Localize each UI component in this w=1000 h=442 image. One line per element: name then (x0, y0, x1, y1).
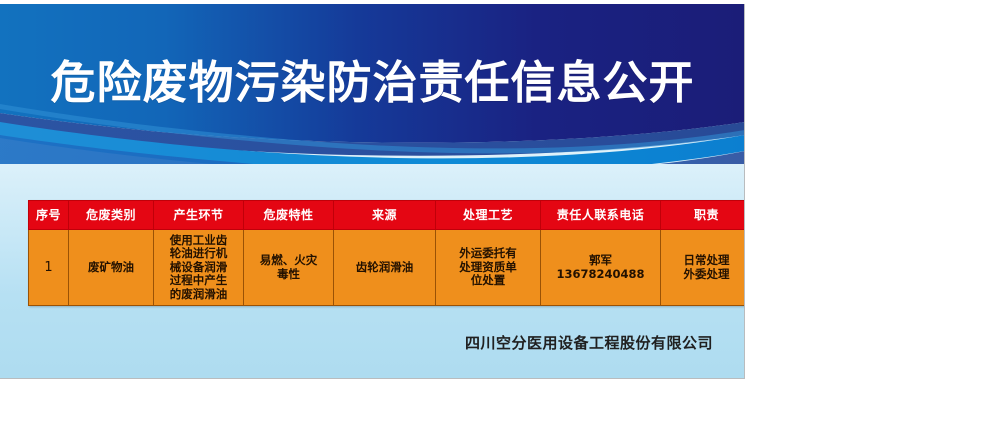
table-header-row: 序号 危废类别 产生环节 危废特性 来源 处理工艺 责任人联系电话 职责 (29, 201, 746, 230)
table-row: 1 废矿物油 使用工业齿 轮油进行机 械设备润滑 过程中产生 的废润滑油 易燃、… (29, 230, 746, 306)
cell-category: 废矿物油 (69, 230, 154, 306)
column-header-duty: 职责 (661, 201, 746, 230)
cell-process-line: 外运委托有 (438, 247, 538, 261)
cell-process-line: 位处置 (438, 274, 538, 288)
cell-hazard: 易燃、火灾 毒性 (244, 230, 334, 306)
cell-stage: 使用工业齿 轮油进行机 械设备润滑 过程中产生 的废润滑油 (154, 230, 244, 306)
cell-hazard-line: 毒性 (246, 268, 331, 282)
column-header-hazard: 危废特性 (244, 201, 334, 230)
column-header-seq: 序号 (29, 201, 69, 230)
banner: 危险废物污染防治责任信息公开 (0, 4, 745, 164)
cell-seq: 1 (29, 230, 69, 306)
cell-stage-line: 使用工业齿 (156, 234, 241, 248)
column-header-source: 来源 (334, 201, 436, 230)
cell-duty-line: 外委处理 (663, 268, 745, 282)
cell-source: 齿轮润滑油 (334, 230, 436, 306)
cell-process-line: 处理资质单 (438, 261, 538, 275)
hazardous-waste-table: 序号 危废类别 产生环节 危废特性 来源 处理工艺 责任人联系电话 职责 1 废… (28, 200, 745, 306)
column-header-stage: 产生环节 (154, 201, 244, 230)
cell-hazard-line: 易燃、火灾 (246, 254, 331, 268)
poster-container: 危险废物污染防治责任信息公开 序号 危废类别 产生环节 危废特性 来源 处理工艺… (0, 4, 745, 379)
cell-duty-line: 日常处理 (663, 254, 745, 268)
cell-stage-line: 的废润滑油 (156, 288, 241, 302)
column-header-category: 危废类别 (69, 201, 154, 230)
cell-stage-line: 过程中产生 (156, 274, 241, 288)
column-header-process: 处理工艺 (436, 201, 541, 230)
cell-contact-phone: 13678240488 (543, 268, 658, 282)
cell-duty: 日常处理 外委处理 (661, 230, 746, 306)
column-header-contact: 责任人联系电话 (541, 201, 661, 230)
cell-process: 外运委托有 处理资质单 位处置 (436, 230, 541, 306)
cell-contact: 郭军 13678240488 (541, 230, 661, 306)
cell-stage-line: 械设备润滑 (156, 261, 241, 275)
banner-graphic (0, 4, 745, 164)
company-name: 四川空分医用设备工程股份有限公司 (0, 332, 713, 353)
cell-contact-name: 郭军 (543, 254, 658, 268)
cell-stage-line: 轮油进行机 (156, 247, 241, 261)
